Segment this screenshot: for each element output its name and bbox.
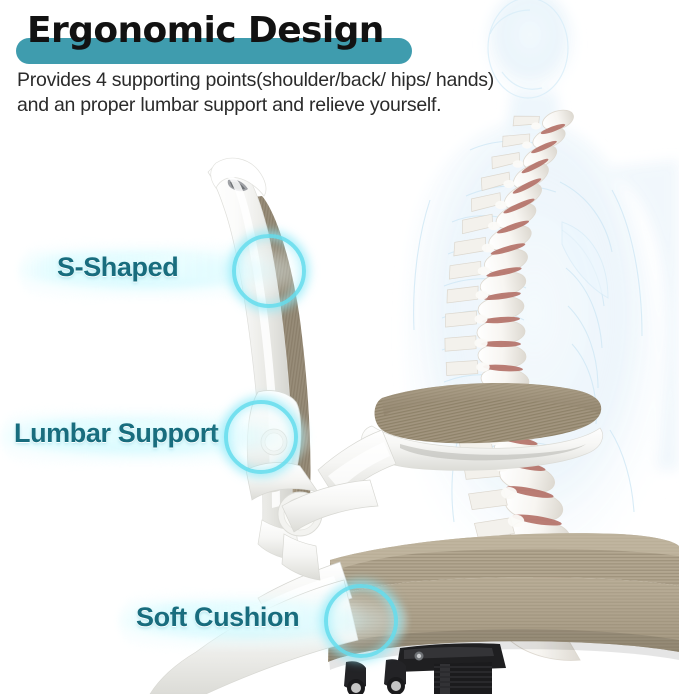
callout-lumbar-support: Lumbar Support <box>0 400 312 474</box>
callout-label-s-shaped: S-Shaped <box>57 252 178 283</box>
callout-label-lumbar-support: Lumbar Support <box>14 418 218 449</box>
page-title: Ergonomic Design <box>16 8 436 62</box>
callout-label-soft-cushion: Soft Cushion <box>136 602 299 633</box>
subtitle-line-2: and an proper lumbar support and relieve… <box>17 93 617 118</box>
title-text: Ergonomic Design <box>27 8 384 54</box>
highlight-ring-icon <box>324 584 398 658</box>
callout-soft-cushion: Soft Cushion <box>118 584 408 658</box>
infographic-page: Ergonomic Design Provides 4 supporting p… <box>0 0 679 694</box>
highlight-ring-icon <box>224 400 298 474</box>
highlight-ring-icon <box>232 234 306 308</box>
callout-s-shaped: S-Shaped <box>18 234 308 308</box>
subtitle: Provides 4 supporting points(shoulder/ba… <box>17 68 617 118</box>
subtitle-line-1: Provides 4 supporting points(shoulder/ba… <box>17 68 617 93</box>
header: Ergonomic Design Provides 4 supporting p… <box>0 0 679 130</box>
